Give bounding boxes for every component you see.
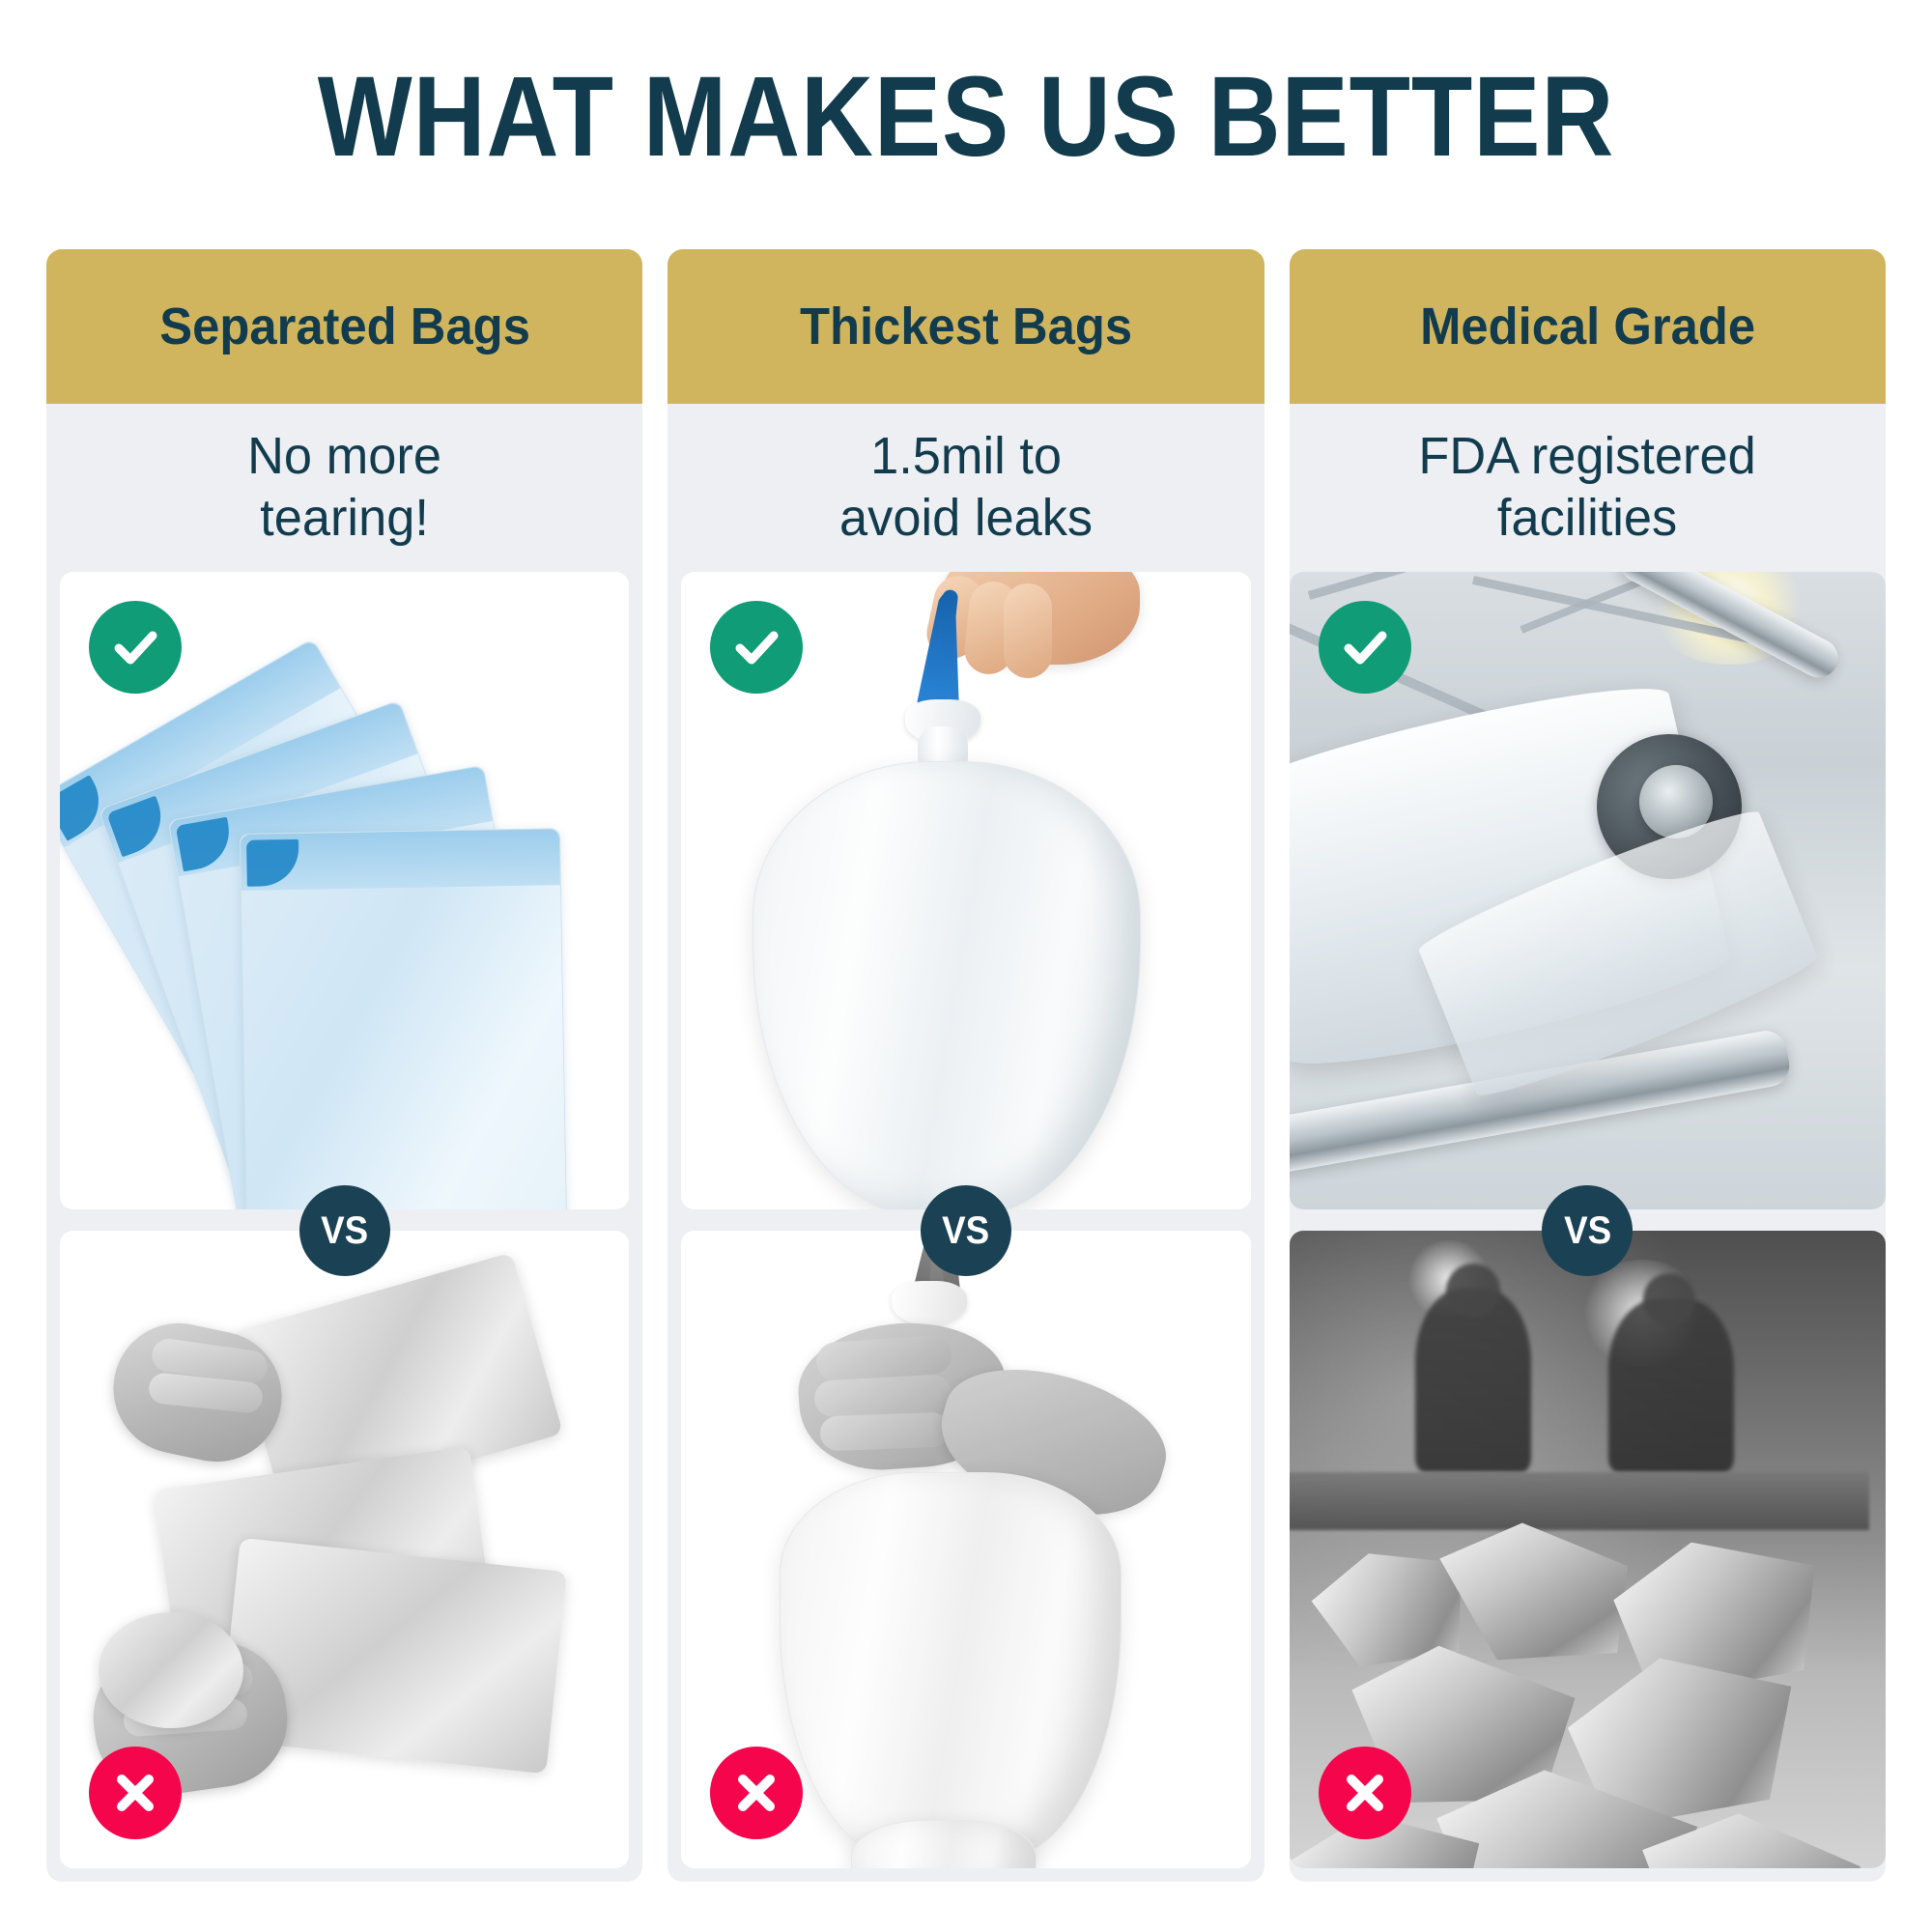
column-separated-bags: Separated Bags No more tearing! <box>46 249 642 1882</box>
column-subtitle-1: No more tearing! <box>46 404 642 572</box>
column-subtitle-label-1: No more tearing! <box>247 426 441 549</box>
subtitle-line-1: FDA registered <box>1419 427 1756 485</box>
bad-panel-1 <box>60 1231 629 1868</box>
subtitle-line-2: tearing! <box>260 489 429 547</box>
vs-badge-1: VS <box>299 1185 390 1276</box>
check-icon <box>1319 601 1411 694</box>
column-subtitle-label-2: 1.5mil to avoid leaks <box>839 426 1093 549</box>
vs-badge-3: VS <box>1542 1185 1633 1276</box>
x-icon <box>1319 1747 1411 1839</box>
vs-badge-2: VS <box>921 1185 1011 1276</box>
subtitle-line-2: avoid leaks <box>839 489 1093 547</box>
good-panel-2 <box>681 572 1250 1209</box>
column-header-3: Medical Grade <box>1290 249 1886 404</box>
x-icon <box>89 1747 182 1839</box>
column-header-label-2: Thickest Bags <box>800 297 1132 356</box>
subtitle-line-1: 1.5mil to <box>870 427 1062 485</box>
column-header-1: Separated Bags <box>46 249 642 404</box>
column-subtitle-2: 1.5mil to avoid leaks <box>668 404 1264 572</box>
column-thickest-bags: Thickest Bags 1.5mil to avoid leaks <box>668 249 1264 1882</box>
check-icon <box>89 601 182 694</box>
comparison-columns: Separated Bags No more tearing! <box>46 249 1886 1882</box>
subtitle-line-2: facilities <box>1497 489 1677 547</box>
check-icon <box>710 601 803 694</box>
column-header-2: Thickest Bags <box>668 249 1264 404</box>
good-panel-3 <box>1290 572 1886 1209</box>
infographic-page: WHAT MAKES US BETTER Separated Bags No m… <box>0 0 1932 1932</box>
x-icon <box>710 1747 803 1839</box>
vs-badge-label-1: VS <box>321 1209 368 1253</box>
vs-badge-label-2: VS <box>942 1209 989 1253</box>
bad-panel-3 <box>1290 1231 1886 1868</box>
column-subtitle-label-3: FDA registered facilities <box>1419 426 1756 549</box>
column-header-label-1: Separated Bags <box>159 297 530 356</box>
vs-badge-label-3: VS <box>1564 1209 1611 1253</box>
column-header-label-3: Medical Grade <box>1420 297 1755 356</box>
column-subtitle-3: FDA registered facilities <box>1290 404 1886 572</box>
subtitle-line-1: No more <box>247 427 441 485</box>
bad-panel-2 <box>681 1231 1250 1868</box>
page-title: WHAT MAKES US BETTER <box>116 60 1816 174</box>
column-medical-grade: Medical Grade FDA registered facilities <box>1290 249 1886 1882</box>
good-panel-1 <box>60 572 629 1209</box>
